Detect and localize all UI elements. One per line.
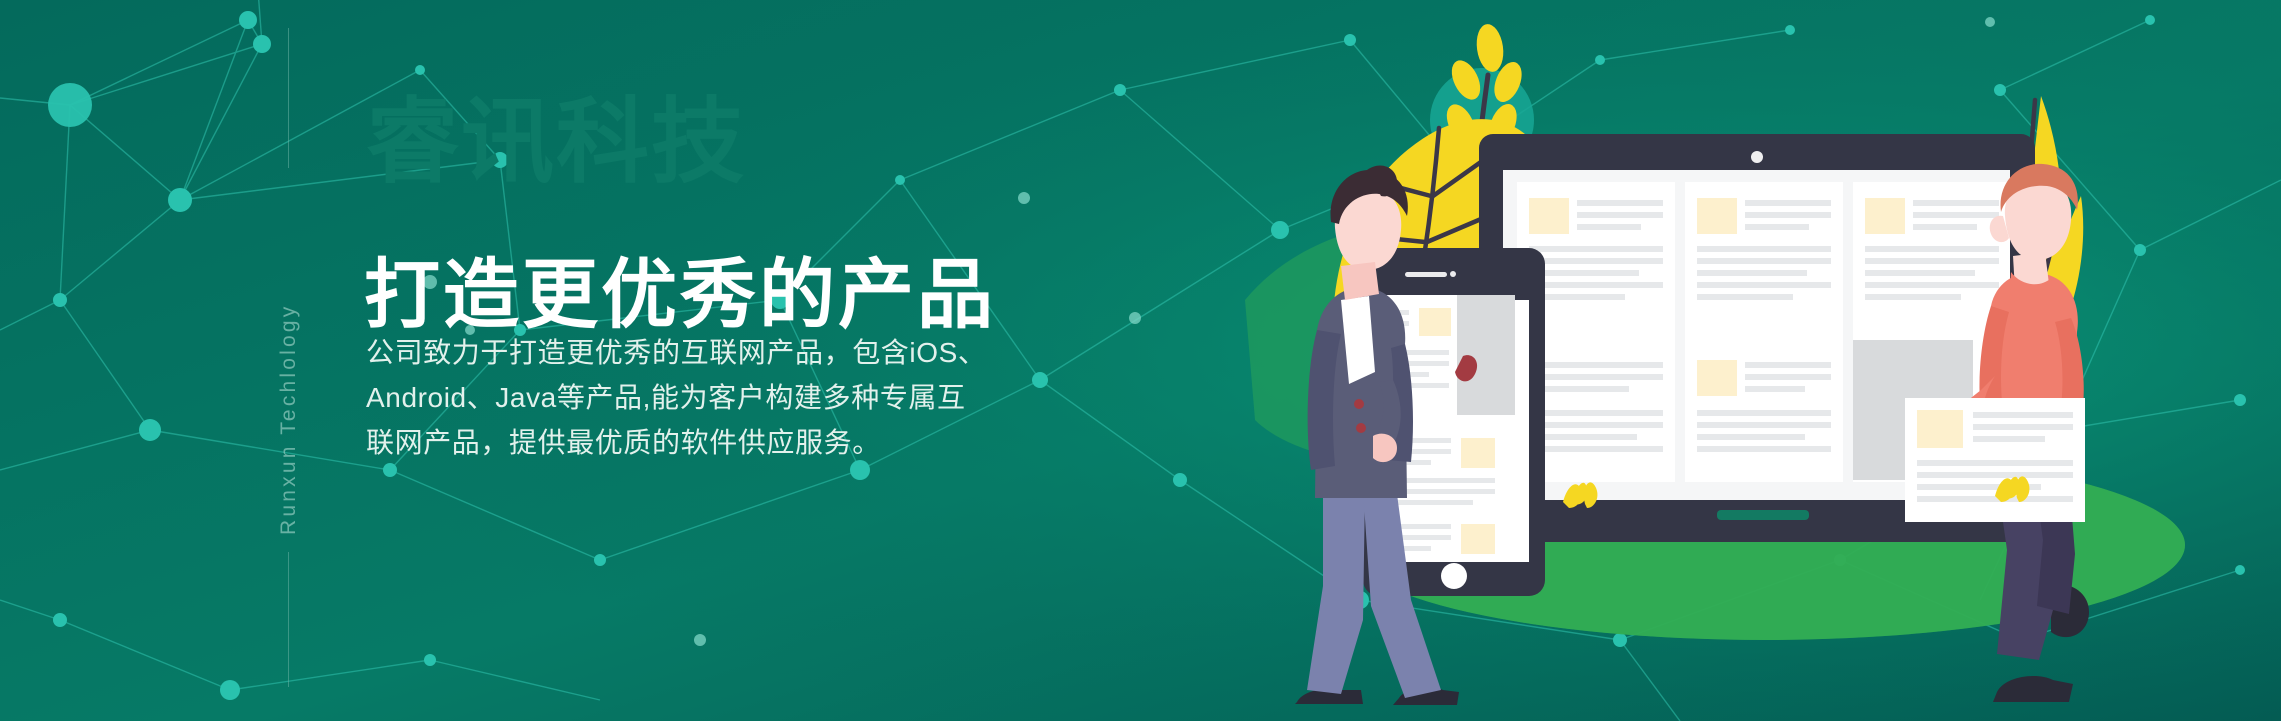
page-title: 打造更优秀的产品: [364, 256, 996, 336]
hero-description-line-1: 公司致力于打造更优秀的互联网产品，包含iOS、: [366, 330, 1156, 375]
phone-dot-icon: [1450, 271, 1456, 277]
laptop-camera-icon: [1751, 151, 1763, 163]
watermark-company-name: 睿讯科技: [366, 96, 746, 189]
phone-speaker-icon: [1405, 272, 1447, 277]
hero-banner: Runxun Techlology 睿讯科技 打造更优秀的产品 公司致力于打造更…: [0, 0, 2281, 721]
vertical-brand-label: Runxun Techlology: [272, 185, 306, 535]
hero-description: 公司致力于打造更优秀的互联网产品，包含iOS、 Android、Java等产品,…: [366, 330, 1156, 465]
hero-description-line-2: Android、Java等产品,能为客户构建多种专属互: [366, 375, 1156, 420]
hero-description-line-3: 联网产品，提供最优质的软件供应服务。: [366, 420, 1156, 465]
brand-rule-top: [288, 28, 289, 168]
phone-home-button: [1441, 563, 1467, 589]
team-with-devices-illustration: [1245, 0, 2281, 721]
document-sheet: [1905, 398, 2085, 522]
brand-rule-bottom: [288, 552, 289, 687]
